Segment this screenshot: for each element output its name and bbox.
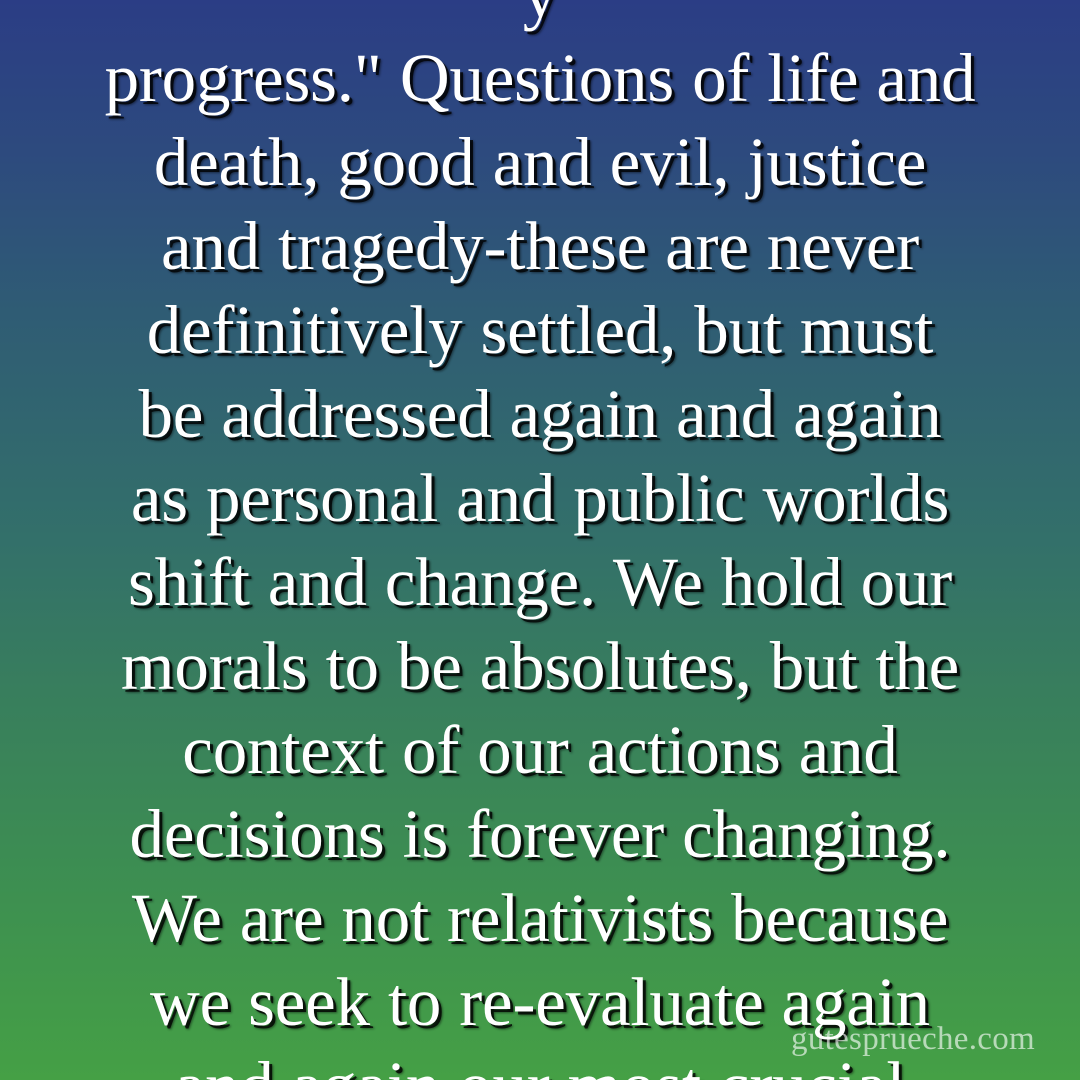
quote-line: and again our most crucial (58, 1044, 1022, 1080)
quote-card: y progress." Questions of life and death… (0, 0, 1080, 1080)
quote-line: y (58, 0, 1022, 36)
quote-text-block: y progress." Questions of life and death… (0, 0, 1080, 1080)
quote-line: as personal and public worlds (58, 456, 1022, 540)
quote-line: We are not relativists because (58, 876, 1022, 960)
quote-line: progress." Questions of life and (58, 36, 1022, 120)
quote-line: death, good and evil, justice (58, 120, 1022, 204)
quote-line: context of our actions and (58, 708, 1022, 792)
quote-line: and tragedy-these are never (58, 204, 1022, 288)
quote-line: definitively settled, but must (58, 288, 1022, 372)
quote-line: be addressed again and again (58, 372, 1022, 456)
quote-line: shift and change. We hold our (58, 540, 1022, 624)
quote-line: decisions is forever changing. (58, 792, 1022, 876)
quote-line: morals to be absolutes, but the (58, 624, 1022, 708)
quote-line: we seek to re-evaluate again (58, 960, 1022, 1044)
